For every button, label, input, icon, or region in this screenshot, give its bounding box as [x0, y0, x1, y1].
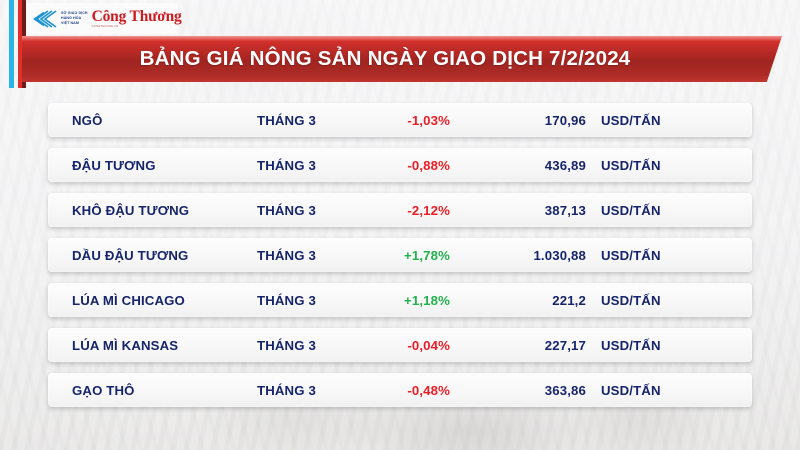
table-row[interactable]: LÚA MÌ KANSASTHÁNG 3-0,04%227,17USD/TẤN — [48, 328, 752, 362]
table-row[interactable]: KHÔ ĐẬU TƯƠNGTHÁNG 3-2,12%387,13USD/TẤN — [48, 193, 752, 227]
price-table: NGÔTHÁNG 3-1,03%170,96USD/TẤNĐẬU TƯƠNGTH… — [48, 103, 752, 407]
publication-logo: Công Thương CONGTHUONG.VN — [92, 9, 182, 29]
contract-month: THÁNG 3 — [257, 338, 316, 353]
commodity-name: GẠO THÔ — [72, 383, 135, 398]
price-value: 227,17 — [468, 338, 586, 353]
price-value: 387,13 — [468, 203, 586, 218]
change-percent: +1,78% — [338, 248, 450, 263]
page-title: BẢNG GIÁ NÔNG SẢN NGÀY GIAO DỊCH 7/2/202… — [140, 47, 665, 71]
logo-org-name: SỞ GIAO DỊCH HÀNG HÓA VIỆT NAM — [61, 11, 88, 25]
price-value: 221,2 — [468, 293, 586, 308]
title-banner: BẢNG GIÁ NÔNG SẢN NGÀY GIAO DỊCH 7/2/202… — [22, 36, 782, 82]
commodity-name: KHÔ ĐẬU TƯƠNG — [72, 203, 189, 218]
table-row[interactable]: NGÔTHÁNG 3-1,03%170,96USD/TẤN — [48, 103, 752, 137]
commodity-name: NGÔ — [72, 113, 103, 128]
change-percent: -0,48% — [338, 383, 450, 398]
logo-org-line3: VIỆT NAM — [61, 21, 79, 25]
banner-highlight — [22, 36, 782, 41]
price-value: 1.030,88 — [468, 248, 586, 263]
contract-month: THÁNG 3 — [257, 293, 316, 308]
commodity-name: ĐẬU TƯƠNG — [72, 158, 156, 173]
price-unit: USD/TẤN — [601, 248, 661, 263]
price-value: 170,96 — [468, 113, 586, 128]
infographic-canvas: SỞ GIAO DỊCH HÀNG HÓA VIỆT NAM Công Thươ… — [0, 0, 800, 450]
contract-month: THÁNG 3 — [257, 248, 316, 263]
price-unit: USD/TẤN — [601, 383, 661, 398]
contract-month: THÁNG 3 — [257, 203, 316, 218]
price-unit: USD/TẤN — [601, 113, 661, 128]
price-unit: USD/TẤN — [601, 158, 661, 173]
price-unit: USD/TẤN — [601, 293, 661, 308]
price-value: 436,89 — [468, 158, 586, 173]
table-row[interactable]: GẠO THÔTHÁNG 3-0,48%363,86USD/TẤN — [48, 373, 752, 407]
table-row[interactable]: LÚA MÌ CHICAGOTHÁNG 3+1,18%221,2USD/TẤN — [48, 283, 752, 317]
commodity-name: DẦU ĐẬU TƯƠNG — [72, 248, 188, 263]
change-percent: -0,04% — [338, 338, 450, 353]
publication-url: CONGTHUONG.VN — [92, 25, 182, 28]
change-percent: -2,12% — [338, 203, 450, 218]
accent-bar-cyan — [9, 0, 14, 88]
logo-org-line1: SỞ GIAO DỊCH — [61, 11, 88, 15]
change-percent: -1,03% — [338, 113, 450, 128]
table-row[interactable]: DẦU ĐẬU TƯƠNGTHÁNG 3+1,78%1.030,88USD/TẤ… — [48, 238, 752, 272]
price-unit: USD/TẤN — [601, 338, 661, 353]
table-row[interactable]: ĐẬU TƯƠNGTHÁNG 3-0,88%436,89USD/TẤN — [48, 148, 752, 182]
contract-month: THÁNG 3 — [257, 158, 316, 173]
price-value: 363,86 — [468, 383, 586, 398]
publication-name: Công Thương — [92, 9, 182, 25]
price-unit: USD/TẤN — [601, 203, 661, 218]
change-percent: -0,88% — [338, 158, 450, 173]
mxv-wave-logo-icon — [30, 9, 58, 29]
change-percent: +1,18% — [338, 293, 450, 308]
contract-month: THÁNG 3 — [257, 113, 316, 128]
logo-org-line2: HÀNG HÓA — [61, 16, 81, 20]
contract-month: THÁNG 3 — [257, 383, 316, 398]
commodity-name: LÚA MÌ CHICAGO — [72, 293, 185, 308]
logo-plate: SỞ GIAO DỊCH HÀNG HÓA VIỆT NAM Công Thươ… — [26, 3, 178, 34]
commodity-name: LÚA MÌ KANSAS — [72, 338, 178, 353]
